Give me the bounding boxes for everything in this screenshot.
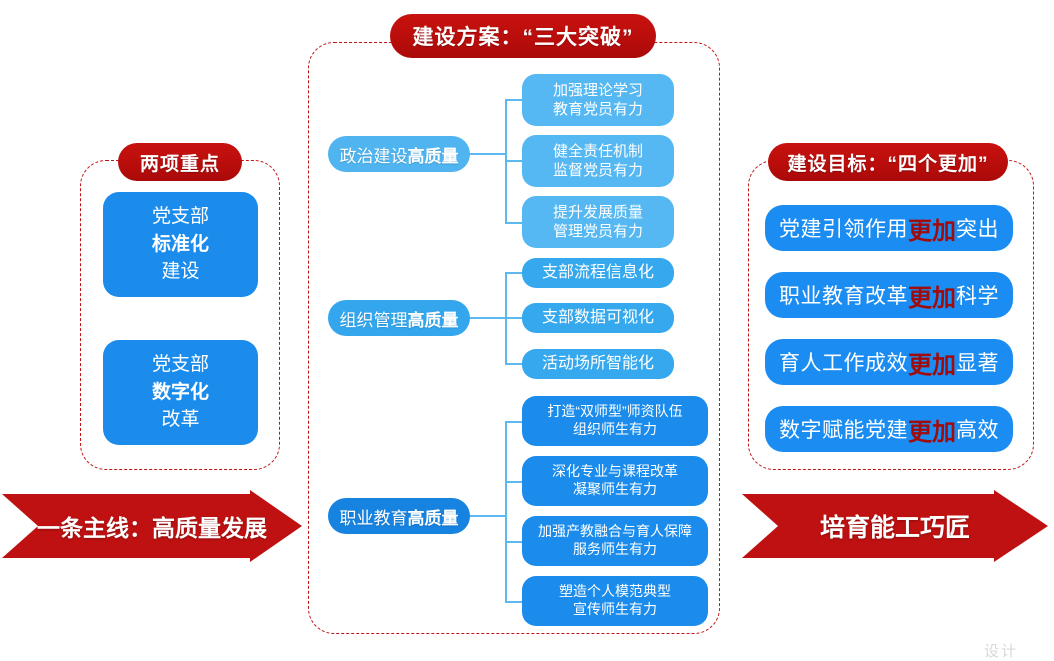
group-2-stem: [470, 515, 506, 517]
group-0-item-2[interactable]: 提升发展质量 管理党员有力: [522, 196, 674, 248]
left-card-0-line2: 标准化: [152, 231, 209, 259]
group-1-item-1[interactable]: 支部数据可视化: [522, 303, 674, 333]
right-card-1-prefix: 职业教育改革: [779, 280, 908, 310]
right-panel-title-text: 建设目标：“四个更加”: [787, 149, 988, 176]
left-card-0-line3: 建设: [161, 258, 199, 286]
right-card-3-emphasis: 更加: [908, 412, 956, 447]
left-card-1-line1: 党支部: [152, 351, 209, 379]
group-head-0-strong: 高质量: [408, 142, 459, 167]
group-head-1-strong: 高质量: [408, 306, 459, 331]
group-1-item-1-line1: 支部数据可视化: [542, 308, 654, 328]
group-0-item-2-line2: 管理党员有力: [553, 222, 643, 241]
right-card-0-suffix: 突出: [956, 213, 999, 243]
group-2-item-1-line2: 凝聚师生有力: [573, 481, 657, 499]
right-card-2-suffix: 显著: [956, 347, 999, 377]
group-0-item-1-line2: 监督党员有力: [553, 161, 643, 180]
left-card-0-line1: 党支部: [152, 203, 209, 231]
left-arrow-shape: [2, 490, 302, 562]
left-card-0[interactable]: 党支部 标准化 建设: [103, 192, 258, 297]
right-card-3-suffix: 高效: [956, 414, 999, 444]
right-card-1-suffix: 科学: [956, 280, 999, 310]
right-card-2[interactable]: 育人工作成效更加显著: [765, 339, 1013, 385]
group-2-item-2[interactable]: 加强产教融合与育人保障 服务师生有力: [522, 516, 708, 566]
left-card-1[interactable]: 党支部 数字化 改革: [103, 340, 258, 445]
group-2-spine: [505, 421, 507, 602]
right-card-0[interactable]: 党建引领作用更加突出: [765, 205, 1013, 251]
center-panel-title-text: 建设方案：“三大突破”: [413, 21, 634, 51]
right-arrow-shape: [742, 490, 1048, 562]
group-head-1[interactable]: 组织管理高质量: [328, 300, 470, 336]
group-1-stem: [470, 317, 506, 319]
group-0-item-1-line1: 健全责任机制: [553, 142, 643, 161]
left-card-1-line3: 改革: [161, 406, 199, 434]
group-2-item-0-line1: 打造“双师型”师资队伍: [547, 403, 682, 421]
right-panel-title: 建设目标：“四个更加”: [768, 143, 1008, 181]
group-2-item-2-line2: 服务师生有力: [573, 541, 657, 559]
group-2-item-3[interactable]: 塑造个人模范典型 宣传师生有力: [522, 576, 708, 626]
center-panel-title: 建设方案：“三大突破”: [390, 14, 656, 58]
group-head-2[interactable]: 职业教育高质量: [328, 498, 470, 534]
group-0-item-2-line1: 提升发展质量: [553, 203, 643, 222]
group-1-item-0[interactable]: 支部流程信息化: [522, 258, 674, 288]
right-card-3-prefix: 数字赋能党建: [779, 414, 908, 444]
group-head-2-prefix: 职业教育: [340, 504, 408, 529]
right-card-3[interactable]: 数字赋能党建更加高效: [765, 406, 1013, 452]
group-2-item-3-line1: 塑造个人模范典型: [559, 583, 671, 601]
group-2-item-3-line2: 宣传师生有力: [573, 601, 657, 619]
group-2-item-1[interactable]: 深化专业与课程改革 凝聚师生有力: [522, 456, 708, 506]
group-head-1-prefix: 组织管理: [340, 306, 408, 331]
group-1-item-0-line1: 支部流程信息化: [542, 263, 654, 283]
left-panel-title: 两项重点: [118, 143, 242, 181]
right-card-2-prefix: 育人工作成效: [779, 347, 908, 377]
group-1-item-2[interactable]: 活动场所智能化: [522, 349, 674, 379]
group-2-item-2-line1: 加强产教融合与育人保障: [538, 523, 692, 541]
group-0-stem: [470, 153, 506, 155]
right-card-0-prefix: 党建引领作用: [779, 213, 908, 243]
group-0-item-0-line1: 加强理论学习: [553, 81, 643, 100]
group-0-item-0-line2: 教育党员有力: [553, 100, 643, 119]
group-0-item-0[interactable]: 加强理论学习 教育党员有力: [522, 74, 674, 126]
group-0-item-1[interactable]: 健全责任机制 监督党员有力: [522, 135, 674, 187]
group-2-item-0[interactable]: 打造“双师型”师资队伍 组织师生有力: [522, 396, 708, 446]
right-card-1-emphasis: 更加: [908, 278, 956, 313]
left-panel-title-text: 两项重点: [140, 149, 220, 176]
right-arrow[interactable]: 培育能工巧匠: [742, 490, 1048, 562]
group-1-item-2-line1: 活动场所智能化: [542, 354, 654, 374]
group-2-item-1-line1: 深化专业与课程改革: [552, 463, 678, 481]
right-card-1[interactable]: 职业教育改革更加科学: [765, 272, 1013, 318]
group-2-item-0-line2: 组织师生有力: [573, 421, 657, 439]
diagram-canvas: 两项重点 党支部 标准化 建设 党支部 数字化 改革 建设方案：“三大突破” 政…: [0, 0, 1054, 658]
group-head-2-strong: 高质量: [408, 504, 459, 529]
left-card-1-line2: 数字化: [152, 379, 209, 407]
left-arrow[interactable]: 一条主线：高质量发展: [2, 490, 302, 562]
group-head-0-prefix: 政治建设: [340, 142, 408, 167]
right-card-2-emphasis: 更加: [908, 345, 956, 380]
right-card-0-emphasis: 更加: [908, 211, 956, 246]
group-head-0[interactable]: 政治建设高质量: [328, 136, 470, 172]
